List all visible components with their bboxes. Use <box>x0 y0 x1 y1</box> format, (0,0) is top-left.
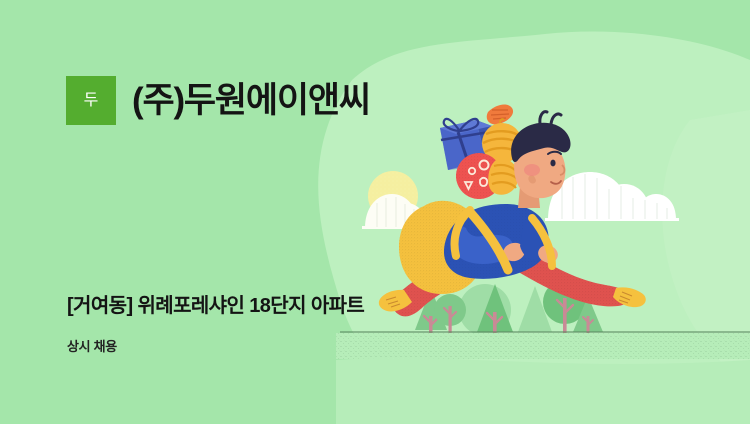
runner <box>379 105 646 317</box>
sun <box>368 171 418 221</box>
company-logo-badge: 두 <box>66 76 116 125</box>
company-name: (주)두원에이앤씨 <box>132 83 370 118</box>
gift-wedge <box>487 105 513 125</box>
cloud-left <box>362 194 440 229</box>
posting-status-badge: 상시 채용 <box>67 339 117 355</box>
hair <box>511 123 570 162</box>
backpack <box>399 201 485 294</box>
head <box>514 141 565 198</box>
company-header: 두 (주)두원에이앤씨 <box>66 76 370 125</box>
running-person-illustration <box>0 0 750 424</box>
company-logo-text: 두 <box>84 93 99 109</box>
gift-ball-yellow <box>482 119 522 163</box>
cloud-right <box>545 172 679 221</box>
posting-title: [거여동] 위례포레샤인 18단지 아파트 <box>67 294 364 318</box>
gift-ball-red <box>456 153 502 199</box>
gift-box <box>440 119 500 170</box>
tree-row <box>415 280 603 338</box>
gift-ball-yellow-2 <box>488 159 518 195</box>
shirt <box>444 204 549 279</box>
job-posting-card: 두 (주)두원에이앤씨 [거여동] 위례포레샤인 18단지 아파트 상시 채용 <box>0 0 750 424</box>
